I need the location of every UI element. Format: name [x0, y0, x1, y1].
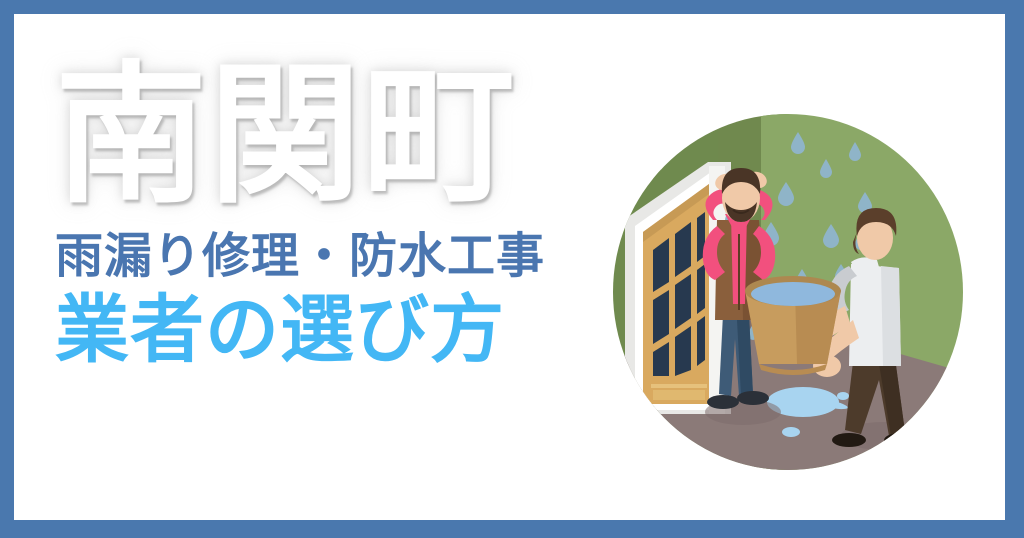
- page-title-location: 南関町: [55, 60, 635, 212]
- banner-image: 南関町 雨漏り修理・防水工事 業者の選び方: [0, 0, 1024, 538]
- shoe-left: [707, 395, 739, 409]
- shirt-white-shade: [881, 266, 901, 366]
- subtitle-service: 雨漏り修理・防水工事: [55, 230, 635, 283]
- bucket-water: [751, 282, 835, 306]
- shoe-front: [884, 433, 918, 447]
- shoe-right: [737, 391, 769, 405]
- puddle-droplet: [837, 392, 849, 400]
- door-lower-panel: [653, 390, 705, 400]
- roof-leak-scene-svg: [613, 114, 963, 470]
- shoe-back: [832, 433, 866, 447]
- subtitle-topic: 業者の選び方: [55, 291, 635, 371]
- roof-leak-illustration: [613, 114, 963, 470]
- puddle-droplet-small: [782, 427, 800, 437]
- headline-text-block: 南関町 雨漏り修理・防水工事 業者の選び方: [55, 60, 635, 371]
- scene-contents: [613, 114, 963, 470]
- banner-inner-card: 南関町 雨漏り修理・防水工事 業者の選び方: [14, 14, 1005, 520]
- door-panel-top-rail: [651, 384, 707, 388]
